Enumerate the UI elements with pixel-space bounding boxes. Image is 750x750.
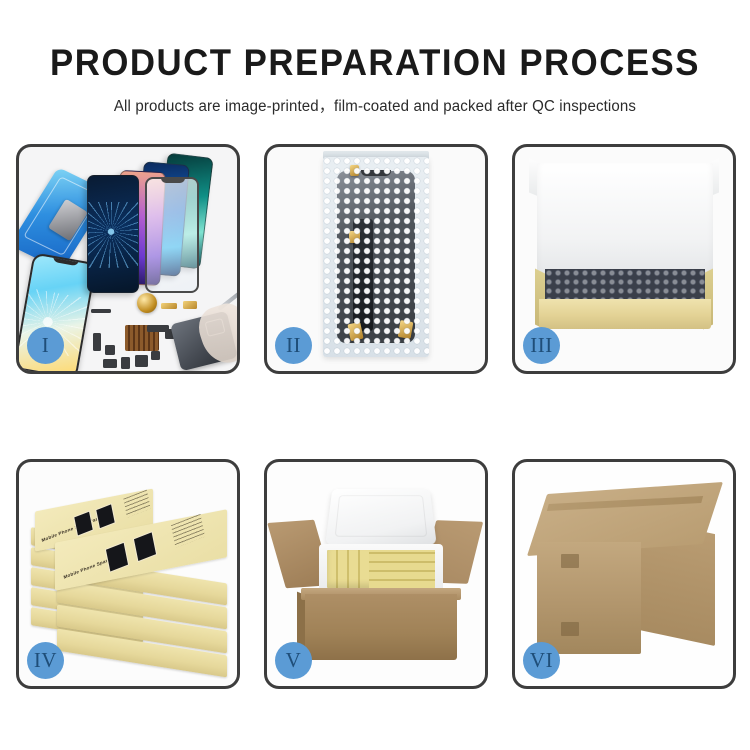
- spare-parts-cluster: [91, 299, 239, 371]
- step-badge-3: III: [523, 327, 560, 364]
- bubble-wrapped-contents: [545, 269, 705, 301]
- retail-box-window-1b: [95, 503, 116, 529]
- retail-box-window-2b: [133, 531, 157, 562]
- gold-connector-bottom-right: [398, 320, 414, 339]
- tempered-glass-panel: [145, 177, 199, 293]
- carton-front-face: [537, 542, 641, 654]
- foam-lid: [325, 489, 437, 545]
- bubble-wrap-bag: [323, 157, 429, 357]
- step-badge-5: V: [275, 642, 312, 679]
- carton-tape-upper: [561, 554, 579, 568]
- retail-box-spec-lines-2: [171, 514, 205, 548]
- step-badge-4: IV: [27, 642, 64, 679]
- retail-box-spec-lines-1: [123, 490, 150, 518]
- step-badge-1: I: [27, 327, 64, 364]
- process-step-1: I Assorted mobile phone screens, LCD ass…: [16, 144, 240, 374]
- page-subtitle: All products are image-printed，film-coat…: [11, 81, 739, 116]
- step-badge-6: VI: [523, 642, 560, 679]
- process-step-5: V Retail boxes loaded into a foam-lined …: [264, 459, 488, 689]
- retail-box-window-1a: [73, 510, 94, 536]
- step-badge-2: II: [275, 327, 312, 364]
- process-step-4: Mobile Phone Spare Parts Mobile Phone Sp…: [16, 459, 240, 689]
- part-small-1: [93, 333, 101, 351]
- lcd-assembly: [337, 171, 415, 343]
- carton-tape-lower: [561, 622, 579, 636]
- part-gold-clip: [161, 303, 177, 309]
- process-step-3: III Bubble-wrapped units laid into a kra…: [512, 144, 736, 374]
- flex-cable-tail: [353, 219, 373, 331]
- phone-screen-dark: [87, 175, 139, 293]
- retail-box-stack: Mobile Phone Spare Parts Mobile Phone Sp…: [27, 478, 233, 674]
- header: PRODUCT PREPARATION PROCESS All products…: [0, 0, 750, 116]
- box-lid-open: [537, 163, 713, 279]
- part-gold-bracket: [183, 301, 197, 309]
- speaker-coil-part: [137, 293, 157, 313]
- part-small-2: [105, 345, 115, 355]
- gold-connector-mid: [349, 231, 360, 243]
- carton-front-wall: [305, 594, 457, 660]
- retail-box-window-2a: [105, 542, 129, 573]
- process-step-2: II Single LCD flex assembly sealed in bu…: [264, 144, 488, 374]
- gold-connector-bottom-left: [347, 322, 363, 341]
- part-small-4: [121, 357, 130, 369]
- part-small-3: [103, 359, 117, 368]
- packed-retail-boxes: [327, 550, 435, 588]
- product-preparation-infographic: PRODUCT PREPARATION PROCESS All products…: [0, 0, 750, 750]
- phone-screen-fan: [81, 153, 240, 303]
- part-small-6: [151, 351, 160, 360]
- part-strip: [91, 309, 111, 313]
- part-small-5: [135, 355, 148, 367]
- kraft-tray-front: [539, 299, 711, 329]
- page-title: PRODUCT PREPARATION PROCESS: [23, 0, 728, 81]
- process-step-grid: I Assorted mobile phone screens, LCD ass…: [16, 144, 736, 690]
- process-step-6: VI Sealed outer shipping carton ready fo…: [512, 459, 736, 689]
- gold-connector-top: [350, 165, 359, 176]
